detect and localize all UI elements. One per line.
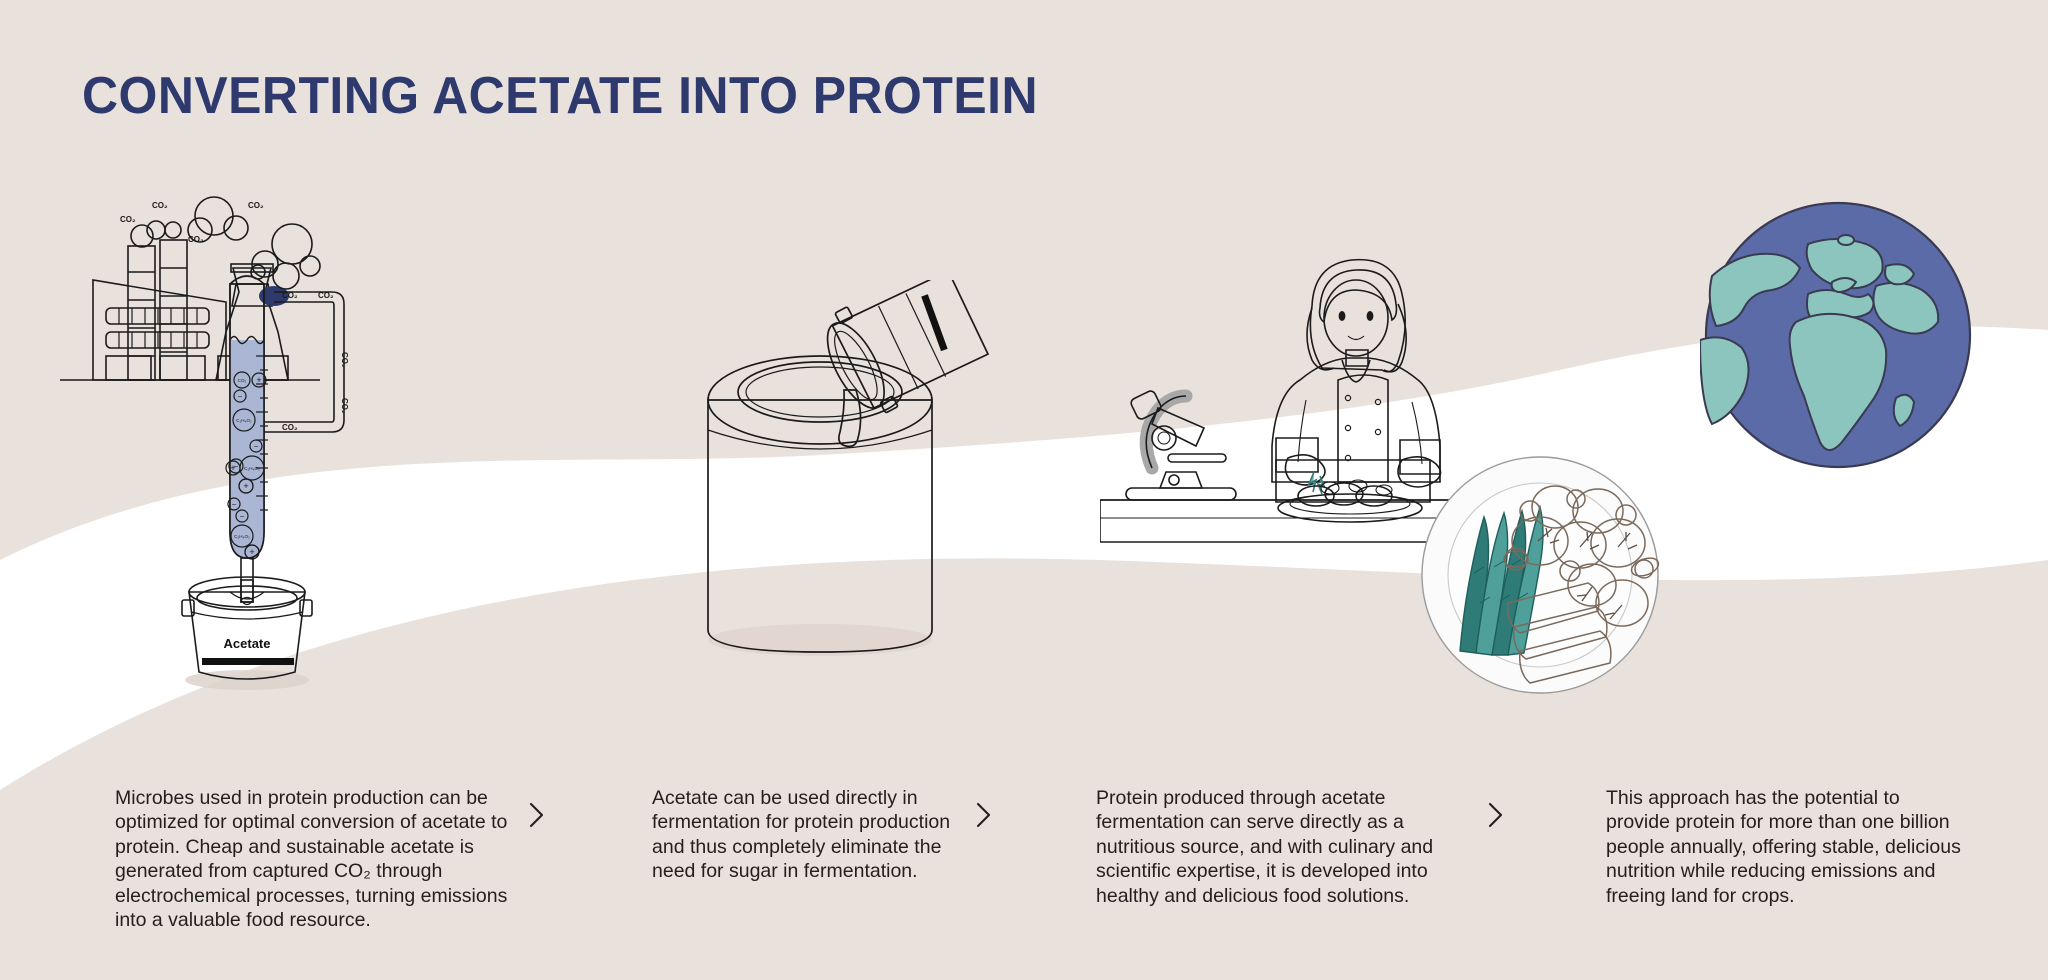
illustration-plated-food: .lp{fill:none;stroke:#7b6a5c;stroke-widt… [1420, 455, 1660, 695]
chevron-right-icon-2 [962, 800, 1006, 830]
counter-plate [1278, 480, 1422, 522]
ion-plus-label: + [249, 547, 254, 557]
pouring-bucket [812, 280, 993, 424]
microscope [1126, 389, 1236, 500]
caption-step-2: Acetate can be used directly in fermenta… [652, 786, 962, 884]
ion-plus-label: + [256, 375, 261, 385]
ion-minus-label: − [240, 512, 245, 521]
co2-pipe-label: CO₂ [282, 291, 298, 300]
acetate-bucket: Acetate [182, 577, 312, 690]
caption-row: Microbes used in protein production can … [0, 786, 2048, 966]
co2-label: CO₂ [188, 235, 204, 244]
ion-minus-label: − [232, 500, 237, 509]
mouth [1348, 336, 1364, 340]
fermentation-tank [708, 356, 932, 652]
molecule-co2-label: CO₂ [238, 378, 247, 383]
chevron-right-icon-1 [515, 800, 559, 830]
caption-step-3: Protein produced through acetate ferment… [1096, 786, 1474, 908]
illustration-globe [1700, 190, 1980, 480]
illustration-fermentation-tank: .l2{fill:none;stroke:#1b1b1b;stroke-widt… [660, 280, 1020, 680]
chevron-right-icon-3 [1474, 800, 1518, 830]
ion-minus-label: − [254, 442, 259, 451]
page-title: CONVERTING ACETATE INTO PROTEIN [82, 70, 1038, 122]
bucket-black-bar [921, 294, 947, 351]
eye-left [1339, 311, 1346, 321]
molecule-label: C₂H₄O₂ [236, 418, 252, 423]
eye-right [1367, 311, 1374, 321]
infographic-canvas: CONVERTING ACETATE INTO PROTEIN .ln{ fil… [0, 0, 2048, 980]
co2-pipe [256, 292, 344, 432]
co2-pipe-label: CO₂ [340, 352, 349, 368]
ion-minus-label: − [238, 392, 243, 401]
co2-label: CO₂ [152, 201, 168, 210]
illustration-factory-electrolyzer: .ln{ fill:none; stroke:#1b1b1b; stroke-w… [60, 180, 560, 740]
caption-step-1: Microbes used in protein production can … [115, 786, 515, 932]
electrolyzer-tube: CO₂ C₂H₄O₂ C₂H₄O₂ C₂H₄O₂ − − − − − + + +… [226, 276, 268, 602]
molecule-label: C₂H₄O₂ [244, 466, 260, 471]
co2-pipe-label: CO₂ [282, 423, 298, 432]
chef-figure [1272, 260, 1441, 494]
acetate-bucket-label: Acetate [224, 636, 271, 651]
caption-step-4: This approach has the potential to provi… [1606, 786, 1966, 908]
molecule-label: C₂H₄O₂ [234, 534, 250, 539]
lab-counter [1100, 500, 1452, 542]
smokestack-right [160, 240, 187, 380]
co2-pipe-label: CO₂ [318, 291, 334, 300]
bucket-black-bar [202, 658, 294, 665]
ion-plus-label: + [230, 463, 235, 473]
co2-label: CO₂ [248, 201, 264, 210]
ion-plus-label: + [243, 481, 248, 491]
co2-pipe-label: CO₂ [340, 398, 349, 414]
co2-label: CO₂ [120, 215, 136, 224]
